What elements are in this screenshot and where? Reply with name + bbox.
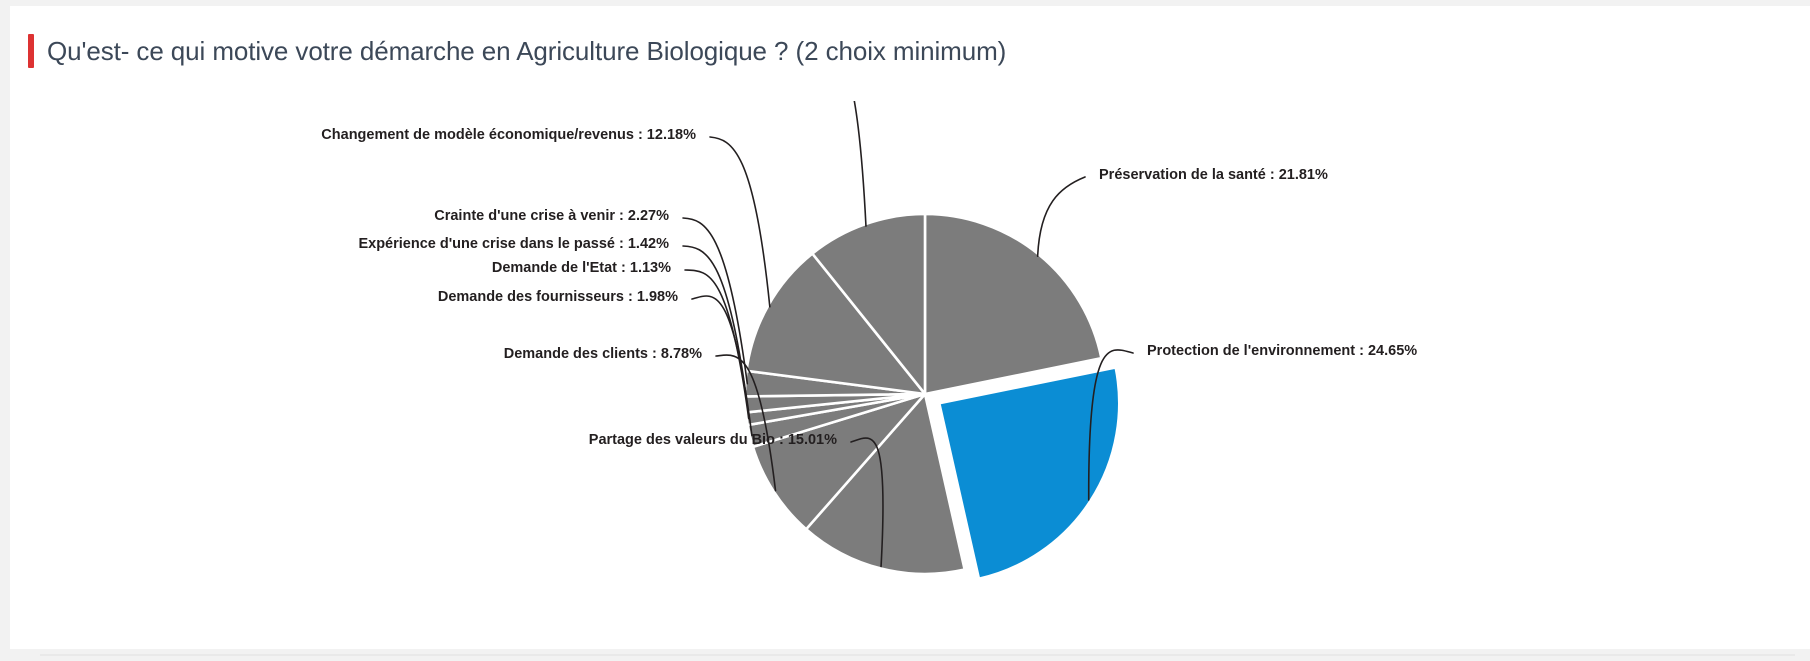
chart-card: Qu'est- ce qui motive votre démarche en … <box>10 6 1810 649</box>
pie-chart: Préservation de la santé : 21.81%Protect… <box>10 101 1810 601</box>
pie-slice[interactable] <box>925 214 1101 394</box>
pie-slice-label: Demande de l'Etat : 1.13% <box>492 260 671 276</box>
pie-leader-line <box>710 137 770 307</box>
pie-slice-label: Partage des valeurs du Bio : 15.01% <box>589 432 837 448</box>
page-title-text: Qu'est- ce qui motive votre démarche en … <box>47 36 1006 67</box>
pie-slice-label: Demande des fournisseurs : 1.98% <box>438 289 678 305</box>
pie-chart-svg: Préservation de la santé : 21.81%Protect… <box>10 101 1810 601</box>
pie-leader-line <box>685 270 749 419</box>
pie-slice-label: Protection de l'environnement : 24.65% <box>1147 343 1417 359</box>
pie-slice-label: Demande des clients : 8.78% <box>504 346 702 362</box>
pie-slice-label: Préservation de la santé : 21.81% <box>1099 167 1328 183</box>
title-accent-bar <box>28 34 34 68</box>
pie-slices <box>745 214 1119 579</box>
bottom-divider <box>40 654 1795 656</box>
page-title: Qu'est- ce qui motive votre démarche en … <box>28 34 1006 68</box>
pie-slice-label: Expérience d'une crise dans le passé : 1… <box>358 236 669 252</box>
pie-leader-line <box>692 296 752 436</box>
pie-leader-line <box>1038 177 1085 256</box>
pie-leader-line <box>824 101 866 226</box>
pie-slice-label: Crainte d'une crise à venir : 2.27% <box>434 208 669 224</box>
pie-slice-label: Changement de modèle économique/revenus … <box>321 127 696 143</box>
